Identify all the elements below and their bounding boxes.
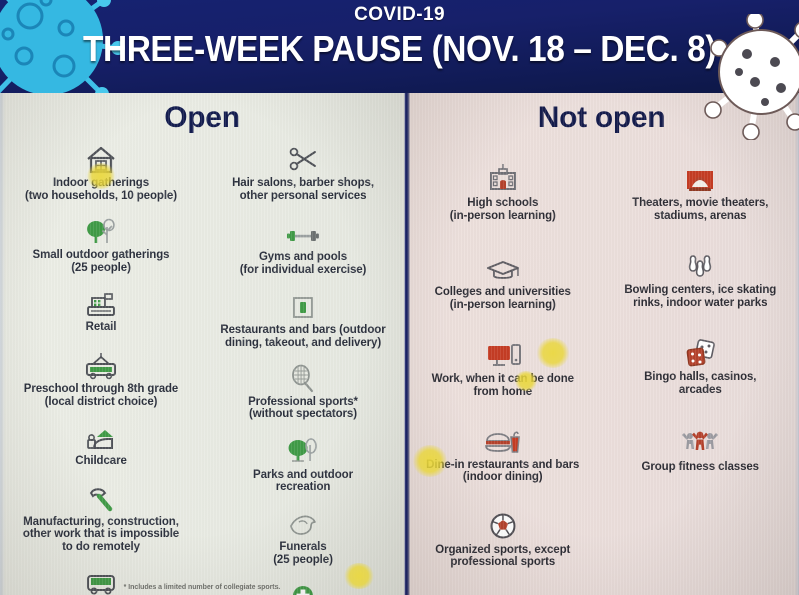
- list-item-label: Work, when it can be done from home: [432, 373, 574, 398]
- header-subtitle: COVID-19: [0, 4, 799, 26]
- group-fitness-icon: [678, 425, 722, 459]
- list-item-label: Childcare: [75, 455, 127, 468]
- open-column-2: Hair salons, barber shops, other persona…: [202, 139, 404, 595]
- list-item[interactable]: Colleges and universities (in-person lea…: [404, 250, 602, 311]
- dumbbell-icon: [283, 215, 323, 249]
- list-item[interactable]: Childcare: [0, 419, 202, 468]
- list-item[interactable]: Small outdoor gatherings (25 people): [0, 213, 202, 274]
- open-column-1: Indoor gatherings (two households, 10 pe…: [0, 139, 202, 595]
- closed-column-2: Theaters, movie theaters, stadiums, aren…: [602, 153, 799, 569]
- list-item-label: Professional sports* (without spectators…: [248, 396, 358, 421]
- panel-right-edge: [795, 93, 799, 595]
- list-item-label: Parks and outdoor recreation: [253, 469, 353, 494]
- list-item-label: Theaters, movie theaters, stadiums, aren…: [632, 197, 768, 222]
- list-item[interactable]: Theaters, movie theaters, stadiums, aren…: [602, 161, 799, 222]
- closed-panel: Not open: [404, 93, 799, 595]
- list-item-label: Hair salons, barber shops, other persona…: [232, 177, 374, 202]
- panel-left-edge: [0, 93, 5, 595]
- tennis-racket-icon: [287, 360, 319, 394]
- closed-column-1: High schools (in-person learning) Colleg…: [404, 153, 602, 569]
- list-item-label: Preschool through 8th grade (local distr…: [24, 383, 178, 408]
- open-panel: Open Indo: [0, 93, 404, 595]
- list-item[interactable]: Preschool through 8th grade (local distr…: [0, 347, 202, 408]
- school-building-icon: [483, 161, 523, 195]
- list-item[interactable]: Parks and outdoor recreation: [202, 433, 404, 494]
- graduation-cap-icon: [483, 250, 523, 284]
- school-bus-icon: [81, 347, 121, 381]
- dove-icon: [285, 505, 321, 539]
- theater-stage-icon: [680, 161, 720, 195]
- list-item[interactable]: Work, when it can be done from home: [404, 337, 602, 398]
- bowling-pins-icon: [680, 248, 720, 282]
- list-item[interactable]: Indoor gatherings (two households, 10 pe…: [0, 141, 202, 202]
- takeout-box-icon: [287, 288, 319, 322]
- list-item[interactable]: Bingo halls, casinos, arcades: [602, 335, 799, 396]
- cash-register-icon: [83, 285, 119, 319]
- header-title: THREE-WEEK PAUSE (NOV. 18 – DEC. 8): [28, 28, 771, 70]
- list-item[interactable]: Organized sports, except professional sp…: [404, 508, 602, 569]
- list-item-label: Small outdoor gatherings (25 people): [33, 249, 170, 274]
- list-item[interactable]: Professional sports* (without spectators…: [202, 360, 404, 421]
- list-item-label: Dine-in restaurants and bars (indoor din…: [426, 459, 579, 484]
- burger-drink-icon: [481, 423, 525, 457]
- open-panel-title: Open: [0, 93, 404, 135]
- childcare-icon: [81, 419, 121, 453]
- list-item-label: Group fitness classes: [642, 461, 759, 474]
- desktop-computer-icon: [482, 337, 524, 371]
- list-item-label: Indoor gatherings (two households, 10 pe…: [25, 177, 177, 202]
- park-tree-icon: [284, 433, 322, 467]
- list-item[interactable]: Group fitness classes: [602, 425, 799, 474]
- house-icon: [84, 141, 118, 175]
- list-item[interactable]: Restaurants and bars (outdoor dining, ta…: [202, 288, 404, 349]
- dice-icon: [680, 335, 720, 369]
- list-item[interactable]: Manufacturing, construction, other work …: [0, 480, 202, 554]
- list-item[interactable]: High schools (in-person learning): [404, 161, 602, 222]
- scissors-icon: [285, 141, 321, 175]
- list-item-label: Organized sports, except professional sp…: [435, 544, 570, 569]
- list-item-label: Colleges and universities (in-person lea…: [435, 286, 571, 311]
- hammer-icon: [83, 480, 119, 514]
- poster-header: COVID-19 THREE-WEEK PAUSE (NOV. 18 – DEC…: [0, 0, 799, 93]
- list-item-label: Retail: [86, 321, 117, 334]
- footnote: * Includes a limited number of collegiat…: [0, 584, 404, 591]
- tree-icon: [83, 213, 119, 247]
- list-item-label: Restaurants and bars (outdoor dining, ta…: [220, 324, 385, 349]
- panel-divider: [404, 93, 410, 595]
- list-item-label: Manufacturing, construction, other work …: [23, 516, 179, 554]
- list-item-label: Bingo halls, casinos, arcades: [644, 371, 756, 396]
- list-item-label: Gyms and pools (for individual exercise): [240, 251, 367, 276]
- list-item[interactable]: Hair salons, barber shops, other persona…: [202, 141, 404, 202]
- list-item[interactable]: Bowling centers, ice skating rinks, indo…: [602, 248, 799, 309]
- virus-particle-white-icon: [703, 14, 799, 140]
- closed-columns: High schools (in-person learning) Colleg…: [404, 135, 799, 569]
- list-item[interactable]: Gyms and pools (for individual exercise): [202, 215, 404, 276]
- header-text-block: COVID-19 THREE-WEEK PAUSE (NOV. 18 – DEC…: [0, 4, 799, 70]
- open-columns: Indoor gatherings (two households, 10 pe…: [0, 135, 404, 595]
- list-item[interactable]: Dine-in restaurants and bars (indoor din…: [404, 423, 602, 484]
- list-item-label: Funerals (25 people): [273, 541, 333, 566]
- covid-pause-infographic: COVID-19 THREE-WEEK PAUSE (NOV. 18 – DEC…: [0, 0, 799, 595]
- list-item[interactable]: Retail: [0, 285, 202, 334]
- panels-container: Open Indo: [0, 93, 799, 595]
- list-item[interactable]: Funerals (25 people): [202, 505, 404, 566]
- list-item-label: High schools (in-person learning): [450, 197, 556, 222]
- soccer-ball-icon: [487, 508, 519, 542]
- list-item-label: Bowling centers, ice skating rinks, indo…: [624, 284, 776, 309]
